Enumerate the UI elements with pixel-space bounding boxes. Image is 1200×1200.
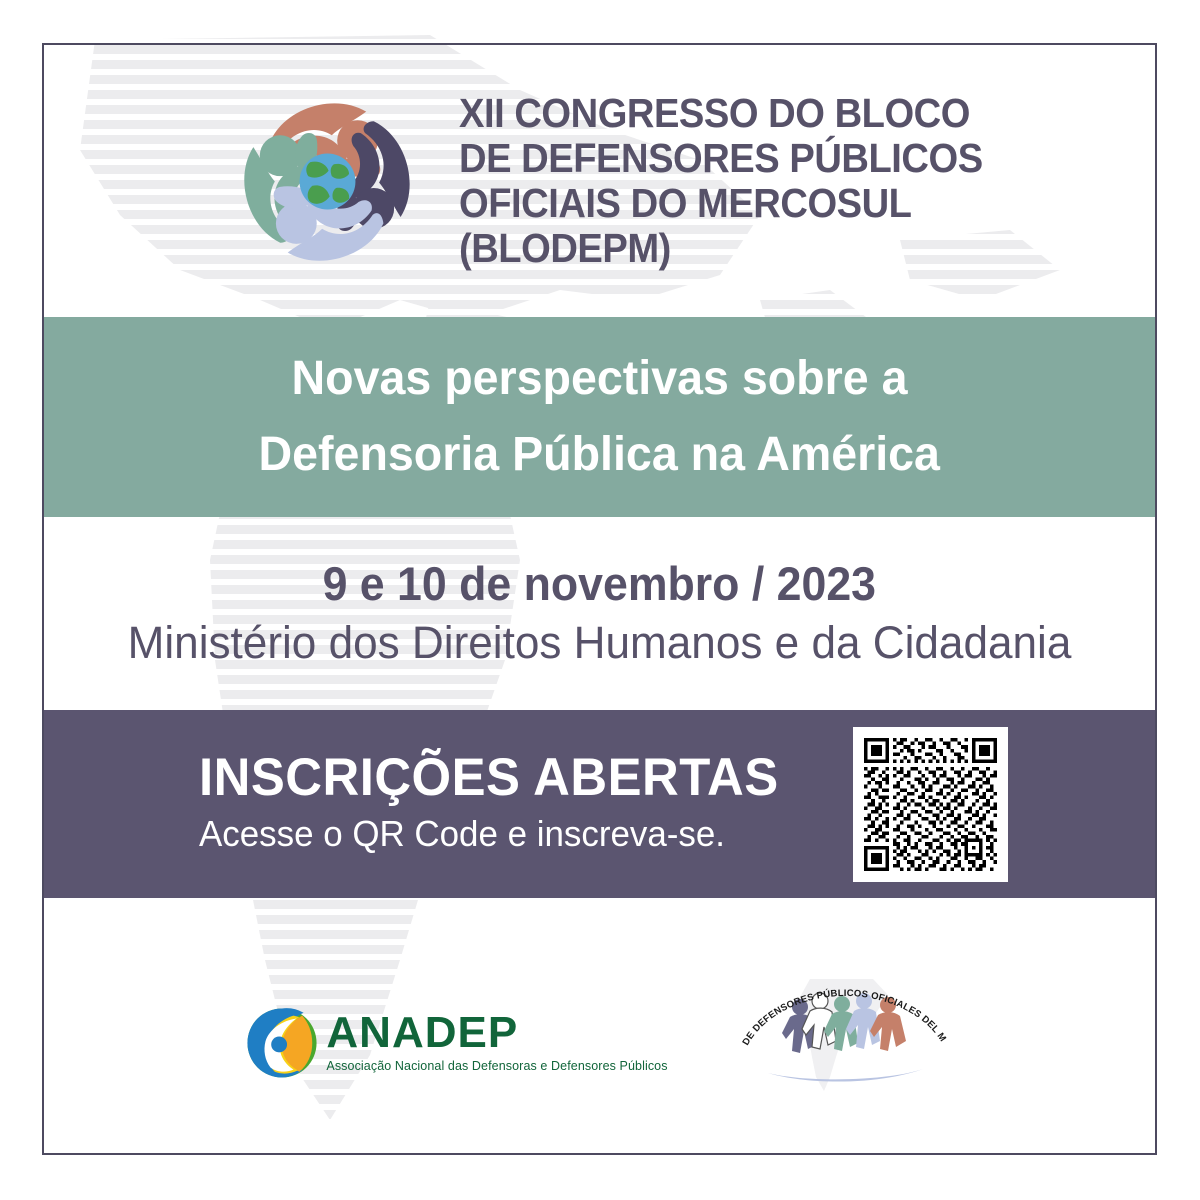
header-section: XII CONGRESSO DO BLOCO DE DEFENSORES PÚB… (44, 45, 1155, 317)
registration-qr-code[interactable] (864, 738, 997, 871)
anadep-logo: ANADEP Associação Nacional das Defensora… (246, 1007, 667, 1079)
qr-code-container[interactable] (853, 727, 1008, 882)
footer-logos: ANADEP Associação Nacional das Defensora… (44, 898, 1155, 1153)
title-line-1: XII CONGRESSO DO BLOCO (459, 91, 1106, 136)
anadep-name: ANADEP (326, 1011, 667, 1055)
registration-headline: INSCRIÇÕES ABERTAS (199, 748, 779, 808)
anadep-wordmark: ANADEP Associação Nacional das Defensora… (326, 1011, 667, 1074)
theme-band: Novas perspectivas sobre a Defensoria Pú… (44, 317, 1155, 517)
theme-line-1: Novas perspectivas sobre a (292, 341, 908, 417)
theme-line-2: Defensoria Pública na América (259, 417, 940, 493)
event-date: 9 e 10 de novembro / 2023 (323, 555, 876, 613)
title-line-3: OFICIAIS DO MERCOSUL (459, 181, 1106, 226)
date-venue-section: 9 e 10 de novembro / 2023 Ministério dos… (44, 519, 1155, 708)
anadep-sphere-icon (246, 1007, 318, 1079)
congress-title: XII CONGRESSO DO BLOCO DE DEFENSORES PÚB… (459, 91, 1155, 271)
blodepm-congress-logo (220, 74, 435, 289)
title-line-2: DE DEFENSORES PÚBLICOS (459, 136, 1106, 181)
registration-text-block: INSCRIÇÕES ABERTAS Acesse o QR Code e in… (199, 748, 803, 860)
event-venue: Ministério dos Direitos Humanos e da Cid… (128, 613, 1072, 673)
title-line-4: (BLODEPM) (459, 226, 1106, 271)
anadep-tagline: Associação Nacional das Defensoras e Def… (326, 1058, 667, 1074)
blodepm-footer-logo: BLOQUE DE DEFENSORES PÚBLICOS OFICIALES … (738, 973, 953, 1098)
registration-band: INSCRIÇÕES ABERTAS Acesse o QR Code e in… (44, 710, 1155, 898)
registration-subtext: Acesse o QR Code e inscreva-se. (199, 808, 785, 860)
